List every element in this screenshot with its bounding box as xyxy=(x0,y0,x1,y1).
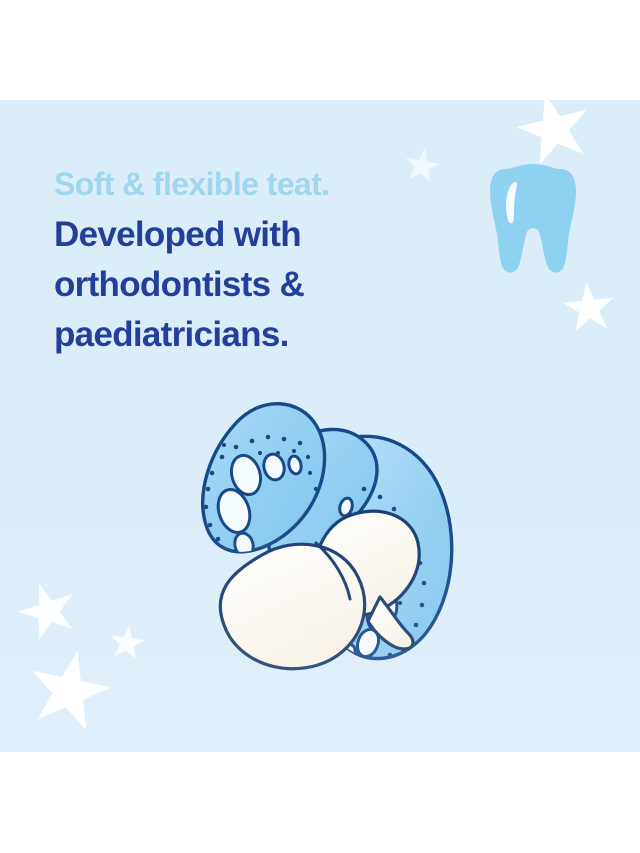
tooth-icon xyxy=(489,160,577,276)
star-icon xyxy=(560,279,617,336)
headline-line-3: paediatricians. xyxy=(54,310,484,360)
copy-block: Soft & flexible teat. Developed with ort… xyxy=(54,164,484,360)
headline-line-2: orthodontists & xyxy=(54,260,484,310)
pacifier-illustration xyxy=(150,385,510,685)
star-icon xyxy=(11,574,84,647)
headline-line-1: Developed with xyxy=(54,210,484,260)
promo-card: Soft & flexible teat. Developed with ort… xyxy=(0,0,640,853)
star-icon xyxy=(20,642,117,739)
eyebrow-text: Soft & flexible teat. xyxy=(54,164,484,204)
page-title: Developed with orthodontists & paediatri… xyxy=(54,210,484,360)
star-icon xyxy=(107,623,148,664)
